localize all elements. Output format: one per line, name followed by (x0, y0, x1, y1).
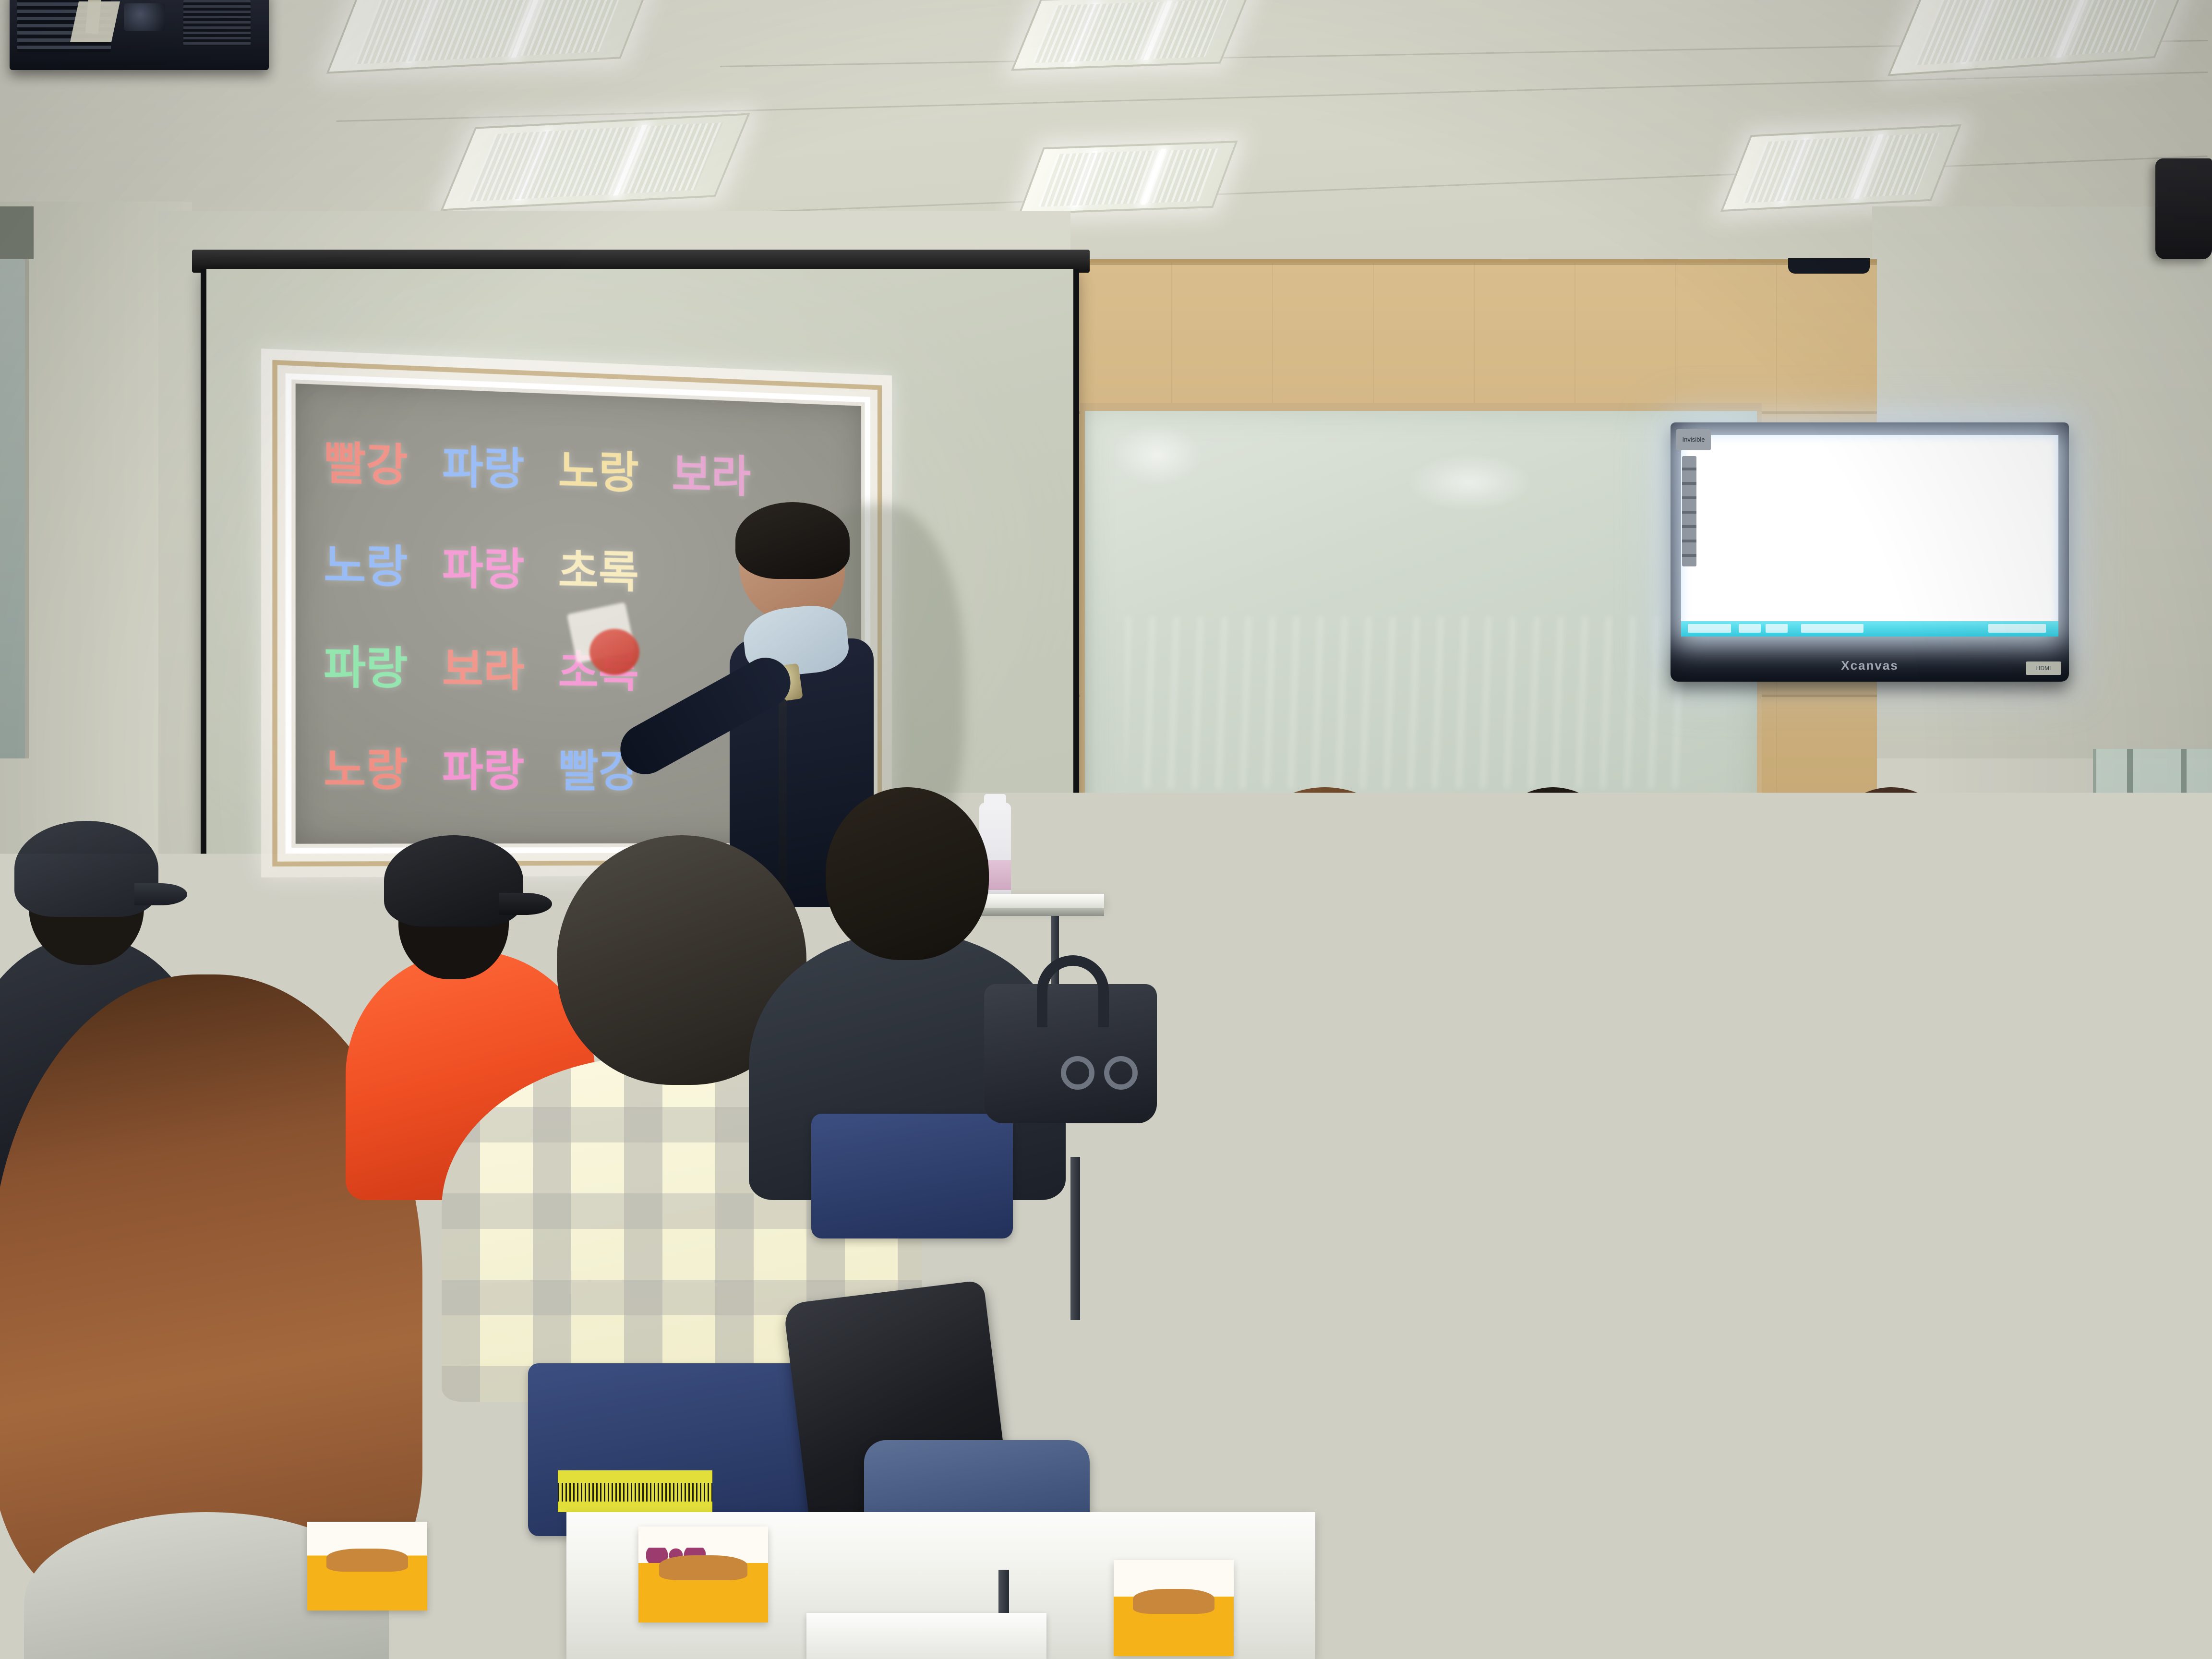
tv-stand (1788, 258, 1870, 274)
audience-member (1527, 1286, 2007, 1659)
audience-garment (1435, 917, 1656, 1099)
tissue-box-pattern (646, 1548, 706, 1563)
stroop-word: 보라 (442, 647, 525, 693)
classroom-scene: Invisible Xcanvas HDMI 빨강파랑노랑보라노랑파랑초록파랑보… (0, 0, 2212, 1659)
tv-screen (1681, 435, 2058, 637)
tissue-box[interactable] (307, 1522, 427, 1611)
stroop-word: 노랑 (324, 543, 408, 590)
desk-leg (1157, 1223, 1166, 1367)
front-desk (1296, 1584, 1565, 1659)
chair-back[interactable] (1805, 1099, 1949, 1190)
whiteboard (1080, 403, 1762, 845)
wall-mounted-tv[interactable]: Invisible Xcanvas HDMI (1671, 422, 2069, 682)
stroop-word: 파랑 (442, 445, 525, 492)
audience-hair (1527, 1286, 2007, 1659)
stroop-word: 파랑 (324, 645, 408, 691)
window-blind (0, 206, 34, 259)
soda-can[interactable] (912, 1234, 950, 1295)
tv-logo: Xcanvas (1841, 658, 1899, 673)
audience-head (826, 787, 989, 960)
audience-head (1483, 787, 1623, 941)
asset-barcode-label (558, 1470, 712, 1512)
audience-member (2069, 1094, 2212, 1659)
ceiling-light-fixture (440, 113, 750, 211)
stroop-word: 파랑 (442, 546, 525, 592)
projector-tag (70, 1, 120, 42)
left-window (0, 206, 29, 758)
tv-taskbar (1681, 621, 2058, 637)
stroop-word: 보라 (672, 453, 751, 499)
desk-leg (1070, 1157, 1080, 1320)
tv-input-badge: HDMI (2026, 661, 2061, 675)
bag-ring-icon (1104, 1056, 1138, 1090)
projector-lens-icon (124, 3, 165, 31)
tv-brand-label: Invisible (1676, 429, 1711, 450)
stroop-word: 빨강 (324, 441, 408, 489)
audience-member (1450, 787, 1642, 1085)
ceiling-light-fixture (1720, 124, 1961, 212)
stroop-word: 노랑 (558, 449, 639, 495)
tissue-box[interactable] (638, 1527, 768, 1623)
wall-speaker (2155, 158, 2212, 259)
stroop-word: 노랑 (324, 747, 408, 793)
notebook-paper[interactable] (806, 1613, 1046, 1659)
chair-back[interactable] (811, 1114, 1013, 1238)
bag-ring-icon (1061, 1056, 1094, 1090)
stroop-word: 초록 (558, 549, 639, 595)
presenter-hair (735, 502, 850, 579)
stroop-word: 파랑 (442, 748, 525, 793)
chair-back[interactable] (528, 1363, 826, 1536)
cap-brim-icon (134, 883, 187, 905)
audience-head (1229, 787, 1421, 989)
ceiling-light-fixture (1018, 141, 1238, 215)
bag-strap (1037, 955, 1109, 1027)
chair-back[interactable] (1133, 1109, 1315, 1219)
tissue-box[interactable] (1114, 1560, 1234, 1656)
presenter-hand (589, 629, 639, 675)
tv-button-panel[interactable] (1682, 456, 1696, 566)
ceiling-projector (10, 0, 269, 70)
projector-vent-icon (183, 0, 251, 46)
ceiling-light-fixture (1011, 0, 1250, 71)
